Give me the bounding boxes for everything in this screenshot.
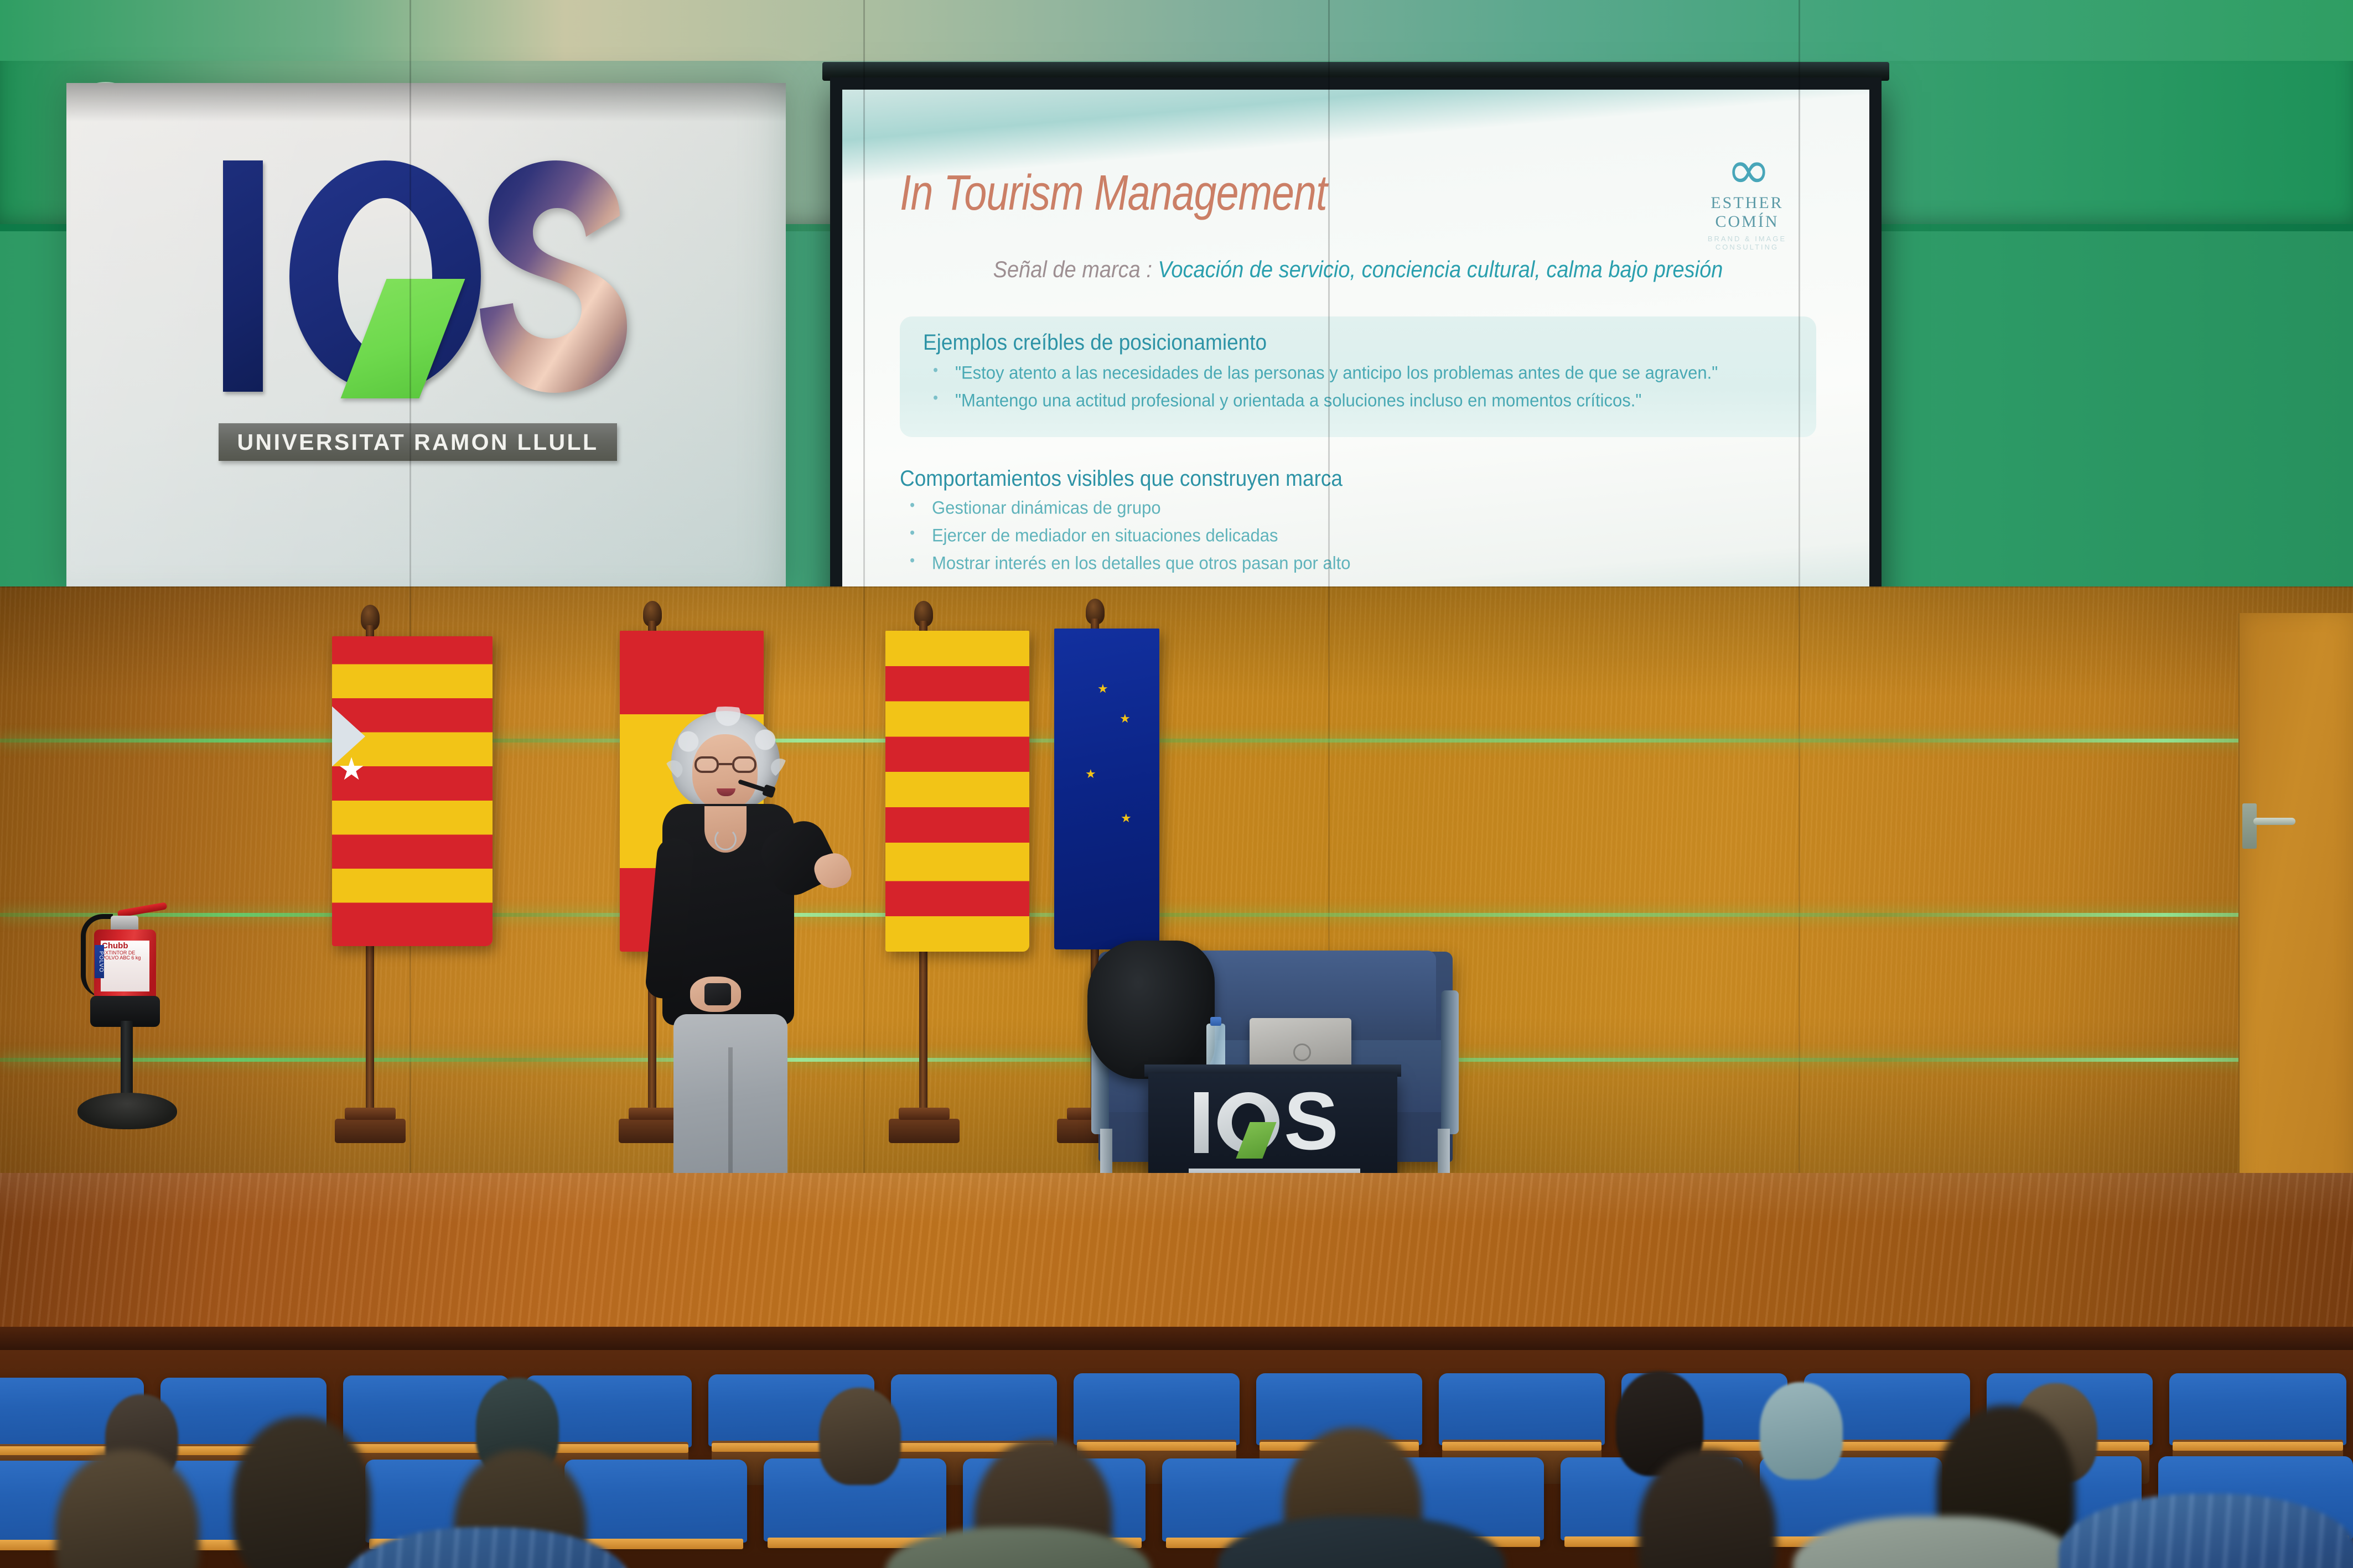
- brand-signal-label: Señal de marca :: [993, 257, 1152, 283]
- brand-signal-line: Señal de marca : Vocación de servicio, c…: [900, 257, 1816, 283]
- institution-subtitle-text: UNIVERSITAT RAMON LLULL: [237, 429, 599, 455]
- sofa-armrest-right: [1441, 990, 1459, 1134]
- black-jacket-on-sofa: [1087, 941, 1215, 1079]
- list-item: "Estoy atento a las necesidades de las p…: [923, 362, 1793, 383]
- extinguisher-pole: [121, 1021, 133, 1098]
- examples-heading: Ejemplos creíbles de posicionamiento: [923, 330, 1793, 355]
- extinguisher-agent-band: POLVO: [95, 945, 104, 978]
- iqs-letter-i: [1194, 1092, 1209, 1153]
- presenter-person: [639, 711, 838, 1209]
- behaviours-section: Comportamientos visibles que construyen …: [900, 467, 1816, 573]
- list-item: Ejercer de mediador en situaciones delic…: [900, 525, 1816, 546]
- list-item: "Mantengo una actitud profesional y orie…: [923, 390, 1793, 411]
- presenter-brand-tagline: BRAND & IMAGE CONSULTING: [1678, 235, 1816, 251]
- audience-head: [1760, 1382, 1843, 1479]
- bottle-cap: [1210, 1017, 1221, 1026]
- flag-base: [335, 1119, 406, 1143]
- audience-seat: [564, 1460, 747, 1543]
- extinguisher-brand-text: Chubb: [102, 942, 148, 951]
- panel-shadow: [66, 83, 786, 122]
- eu-star-icon: ★: [1085, 767, 1096, 781]
- audience-seat: [1074, 1373, 1240, 1445]
- slide-title: In Tourism Management: [900, 164, 1743, 221]
- audience-seat: [1439, 1373, 1605, 1445]
- necklace-icon: [714, 828, 737, 850]
- glasses-lens: [732, 756, 756, 773]
- auditorium-scene: UNIVERSITAT RAMON LLULL ∞ ESTHER COMÍN B…: [0, 0, 2353, 1568]
- extinguisher-label: Chubb EXTINTOR DE POLVO ABC 6 kg: [101, 941, 149, 991]
- ceiling-panels: [0, 0, 2353, 66]
- audience-seat: [891, 1374, 1057, 1446]
- audience-head: [819, 1388, 901, 1485]
- senyera-catalan-flag: [885, 631, 1029, 952]
- sofa-leg: [1438, 1129, 1450, 1173]
- slide-content: ∞ ESTHER COMÍN BRAND & IMAGE CONSULTING …: [842, 138, 1869, 637]
- examples-box: Ejemplos creíbles de posicionamiento "Es…: [900, 316, 1816, 437]
- extinguisher-stand-base: [77, 1093, 177, 1129]
- iqs-letter-s: [479, 158, 636, 395]
- estelada-catalan-independence-flag: ★: [332, 636, 493, 946]
- sofa-leg: [1100, 1129, 1112, 1173]
- glasses-bridge: [719, 763, 732, 765]
- glasses-icon: [695, 756, 756, 773]
- door-lock-plate-icon: [2242, 803, 2257, 849]
- extinguisher-label-text: EXTINTOR DE POLVO ABC 6 kg: [102, 950, 141, 960]
- behaviours-bullet-list: Gestionar dinámicas de grupo Ejercer de …: [900, 498, 1816, 573]
- audience-head: [232, 1416, 371, 1568]
- list-item: Mostrar interés en los detalles que otro…: [900, 553, 1816, 574]
- behaviours-heading: Comportamientos visibles que construyen …: [900, 466, 1816, 491]
- institution-subtitle-bar: UNIVERSITAT RAMON LLULL: [219, 423, 617, 461]
- stage-floor: [0, 1173, 2353, 1339]
- presentation-clicker[interactable]: [704, 983, 731, 1005]
- eu-star-icon: ★: [1097, 682, 1108, 696]
- eu-star-icon: ★: [1121, 811, 1132, 825]
- audience-seat: [2169, 1373, 2346, 1445]
- door-handle-icon[interactable]: [2253, 818, 2295, 825]
- european-union-flag: ★ ★ ★ ★: [1054, 629, 1159, 949]
- list-item: Gestionar dinámicas de grupo: [900, 497, 1816, 518]
- brand-signal-value: Vocación de servicio, conciencia cultura…: [1158, 257, 1723, 283]
- iqs-letter-i: [223, 160, 263, 392]
- iqs-wall-logo: [219, 160, 628, 409]
- iqs-letter-s: S: [1284, 1092, 1341, 1153]
- side-door[interactable]: [2238, 613, 2353, 1201]
- examples-bullet-list: "Estoy atento a las necesidades de las p…: [923, 363, 1793, 411]
- flag-base: [889, 1119, 960, 1143]
- glasses-lens: [695, 756, 719, 773]
- eu-star-icon: ★: [1120, 712, 1131, 726]
- table-iqs-logo: S: [1194, 1090, 1355, 1162]
